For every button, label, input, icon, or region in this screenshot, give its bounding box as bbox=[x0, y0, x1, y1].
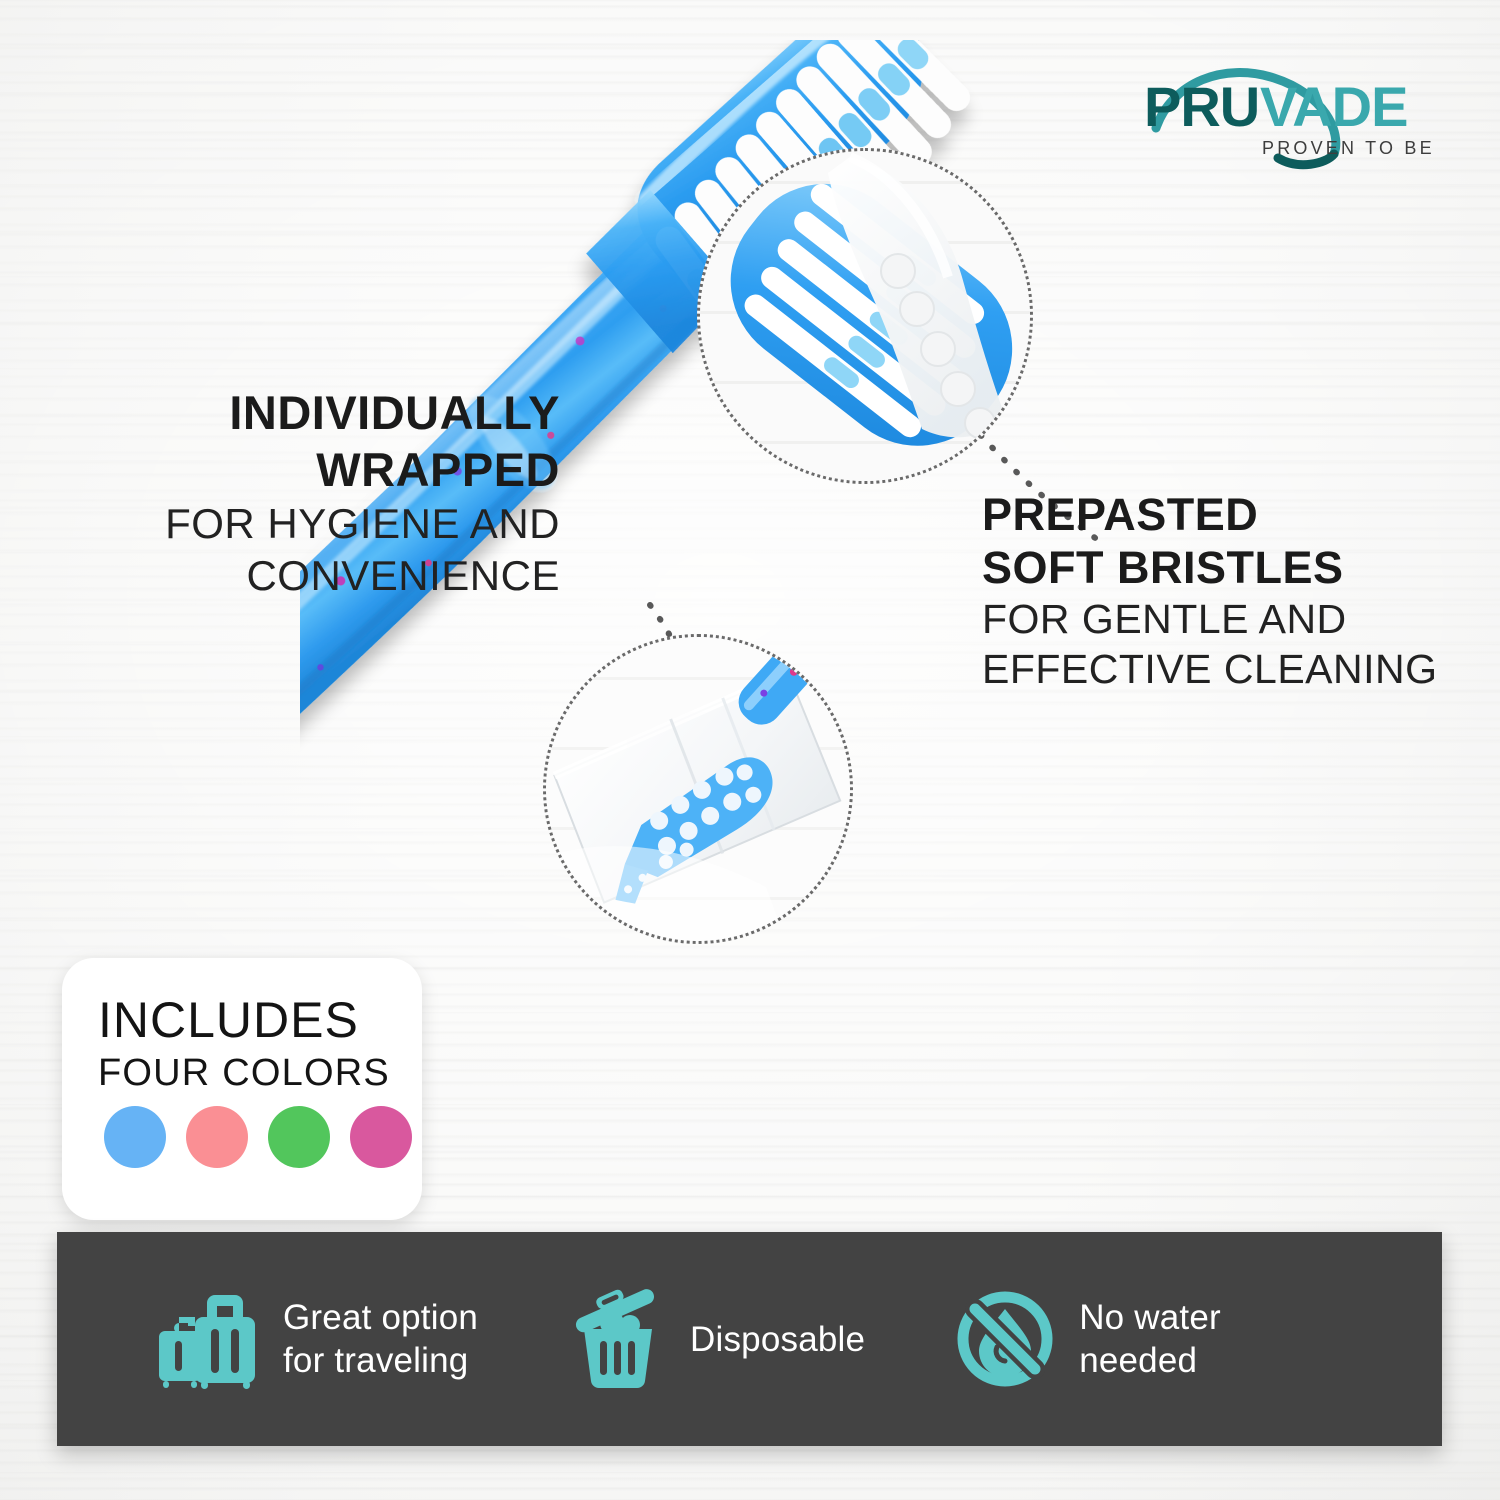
feature-label-disposable: Disposable bbox=[690, 1318, 865, 1361]
right-headline-line1: PREPASTED bbox=[982, 488, 1482, 541]
feature-label-traveling: Great option for traveling bbox=[283, 1296, 478, 1382]
color-swatch-list bbox=[104, 1106, 412, 1168]
color-swatch-blue bbox=[104, 1106, 166, 1168]
colors-card-subtitle: FOUR COLORS bbox=[98, 1050, 390, 1096]
brand-name-part2: VADE bbox=[1260, 75, 1407, 138]
callout-individual-wrapper bbox=[543, 634, 853, 944]
right-sub-line1: FOR GENTLE AND bbox=[982, 594, 1482, 644]
color-swatch-green bbox=[268, 1106, 330, 1168]
no-water-icon bbox=[953, 1287, 1057, 1391]
feature-label-no-water: No water needed bbox=[1079, 1296, 1221, 1382]
includes-colors-card: INCLUDES FOUR COLORS bbox=[62, 958, 422, 1220]
color-swatch-magenta bbox=[350, 1106, 412, 1168]
luggage-icon bbox=[157, 1287, 261, 1391]
callout-brush-head bbox=[697, 148, 1033, 484]
brand-tagline: PROVEN TO BE bbox=[1262, 138, 1435, 158]
feature-item-disposable: Disposable bbox=[568, 1289, 865, 1389]
left-headline-line2: WRAPPED bbox=[95, 441, 560, 498]
feature-text-right: PREPASTED SOFT BRISTLES FOR GENTLE AND E… bbox=[982, 488, 1482, 694]
feature-list: Great option for traveling bbox=[57, 1232, 1442, 1446]
brand-logo: PRU VADE PROVEN TO BE bbox=[1138, 58, 1448, 170]
right-headline-line2: SOFT BRISTLES bbox=[982, 541, 1482, 594]
left-sub-line1: FOR HYGIENE AND bbox=[95, 498, 560, 550]
feature-text-left: INDIVIDUALLY WRAPPED FOR HYGIENE AND CON… bbox=[95, 384, 560, 602]
infographic-canvas: PRU VADE PROVEN TO BE (function(){ var d… bbox=[0, 0, 1500, 1500]
trash-icon bbox=[568, 1289, 668, 1389]
left-sub-line2: CONVENIENCE bbox=[95, 550, 560, 602]
brand-name-part1: PRU bbox=[1144, 75, 1259, 138]
left-headline-line1: INDIVIDUALLY bbox=[95, 384, 560, 441]
feature-item-no-water: No water needed bbox=[953, 1287, 1221, 1391]
color-swatch-coral bbox=[186, 1106, 248, 1168]
feature-item-traveling: Great option for traveling bbox=[157, 1287, 478, 1391]
bottom-feature-bar: Great option for traveling bbox=[57, 1232, 1442, 1446]
right-sub-line2: EFFECTIVE CLEANING bbox=[982, 644, 1482, 694]
colors-card-title: INCLUDES bbox=[98, 991, 359, 1049]
callout-wrapper-image bbox=[546, 637, 850, 941]
callout-brush-head-image bbox=[700, 151, 1030, 481]
